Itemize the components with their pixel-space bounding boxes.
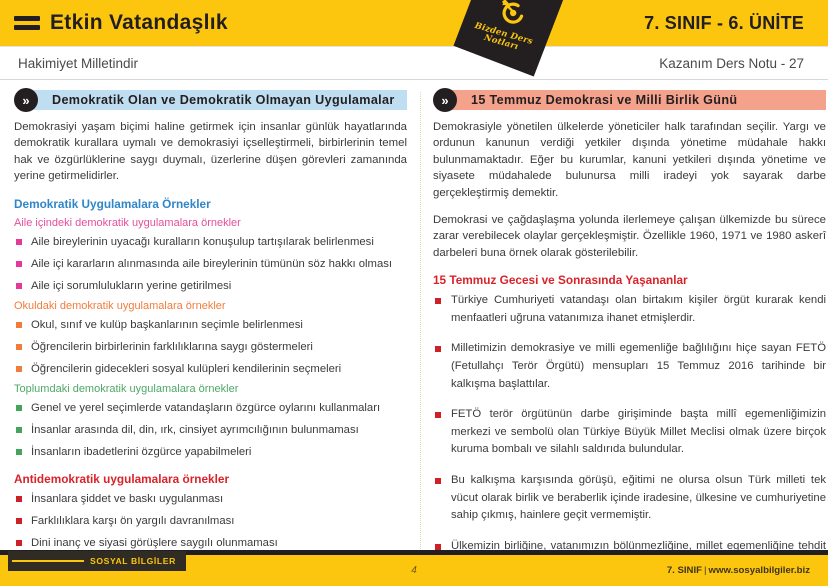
subheading-family: Aile içindeki demokratik uygulamalara ör… — [14, 217, 407, 229]
list-item: Dini inanç ve siyasi görüşlere saygılı o… — [14, 535, 407, 551]
heading-antidemocratic-examples: Antidemokratik uygulamalara örnekler — [14, 472, 407, 486]
list-item: Öğrencilerin gidecekleri sosyal kulüpler… — [14, 361, 407, 377]
footer-bar: SOSYAL BİLGİLER 4 7. SINIF|www.sosyalbil… — [0, 555, 828, 586]
list-item: Farklılıklara karşı ön yargılı davranılm… — [14, 513, 407, 529]
list-item: Aile içi kararların alınmasında aile bir… — [14, 256, 407, 272]
right-section-header: » 15 Temmuz Demokrasi ve Milli Birlik Gü… — [433, 90, 826, 110]
subheading-society: Toplumdaki demokratik uygulamalara örnek… — [14, 383, 407, 395]
heading-july15-night: 15 Temmuz Gecesi ve Sonrasında Yaşananla… — [433, 273, 826, 287]
list-item: İnsanlar arasında dil, din, ırk, cinsiye… — [14, 422, 407, 438]
list-item: Genel ve yerel seçimlerde vatandaşların … — [14, 400, 407, 416]
header-inner: Etkin Vatandaşlık 7. SINIF - 6. ÜNİTE — [0, 0, 828, 46]
list-item: Okul, sınıf ve kulüp başkanlarının seçim… — [14, 317, 407, 333]
subheader-left-text: Hakimiyet Milletindir — [18, 56, 138, 71]
left-column: » Demokratik Olan ve Demokratik Olmayan … — [14, 90, 407, 555]
subheading-school: Okuldaki demokratik uygulamalara örnekle… — [14, 300, 407, 312]
content-area: » Demokratik Olan ve Demokratik Olmayan … — [0, 80, 828, 555]
chevron-right-icon: » — [433, 88, 457, 112]
list-item: FETÖ terör örgütünün darbe girişiminde b… — [433, 406, 826, 459]
list-family-examples: Aile bireylerinin uyacağı kuralların kon… — [14, 234, 407, 294]
footer-logo-rule — [12, 560, 84, 562]
subheader-bar: Hakimiyet Milletindir Kazanım Ders Notu … — [0, 46, 828, 80]
list-item: İnsanların ibadetlerini özgürce yapabilm… — [14, 444, 407, 460]
list-item: Aile içi sorumlulukların yerine getirilm… — [14, 278, 407, 294]
right-column: » 15 Temmuz Demokrasi ve Milli Birlik Gü… — [433, 90, 826, 555]
subheader-right-text: Kazanım Ders Notu - 27 — [659, 56, 804, 71]
hamburger-icon[interactable] — [14, 16, 40, 30]
list-item: Türkiye Cumhuriyeti vatandaşı olan birta… — [433, 292, 826, 327]
list-item: Bu kalkışma karşısında görüşü, eğitimi n… — [433, 472, 826, 525]
left-intro-paragraph: Demokrasiyi yaşam biçimi haline getirmek… — [14, 119, 407, 185]
list-school-examples: Okul, sınıf ve kulüp başkanlarının seçim… — [14, 317, 407, 377]
chevron-right-icon: » — [14, 88, 38, 112]
footer-grade: 7. SINIF — [667, 565, 702, 576]
list-item: Öğrencilerin birbirlerinin farklılıkları… — [14, 339, 407, 355]
header-band: Etkin Vatandaşlık 7. SINIF - 6. ÜNİTE — [0, 0, 828, 46]
header-brand-group: Etkin Vatandaşlık — [14, 11, 228, 35]
right-paragraph-1: Demokrasiyle yönetilen ülkelerde yönetic… — [433, 119, 826, 201]
right-paragraph-2: Demokrasi ve çağdaşlaşma yolunda ilerlem… — [433, 212, 826, 261]
list-item: İnsanlara şiddet ve baskı uygulanması — [14, 491, 407, 507]
page-title: Etkin Vatandaşlık — [50, 11, 228, 35]
footer-website[interactable]: www.sosyalbilgiler.biz — [709, 565, 810, 576]
left-section-title: Demokratik Olan ve Demokratik Olmayan Uy… — [52, 93, 395, 107]
unit-label: 7. SINIF - 6. ÜNİTE — [644, 13, 804, 34]
heading-democratic-examples: Demokratik Uygulamalara Örnekler — [14, 197, 407, 211]
right-section-title: 15 Temmuz Demokrasi ve Milli Birlik Günü — [471, 93, 737, 107]
list-july15-events: Türkiye Cumhuriyeti vatandaşı olan birta… — [433, 292, 826, 586]
list-society-examples: Genel ve yerel seçimlerde vatandaşların … — [14, 400, 407, 460]
list-item: Milletimizin demokrasiye ve milli egemen… — [433, 340, 826, 393]
left-section-header: » Demokratik Olan ve Demokratik Olmayan … — [14, 90, 407, 110]
page-root: Etkin Vatandaşlık 7. SINIF - 6. ÜNİTE Ha… — [0, 0, 828, 586]
column-divider — [407, 90, 433, 555]
list-item: Aile bireylerinin uyacağı kuralların kon… — [14, 234, 407, 250]
footer-right-group: 7. SINIF|www.sosyalbilgiler.biz — [667, 565, 810, 576]
